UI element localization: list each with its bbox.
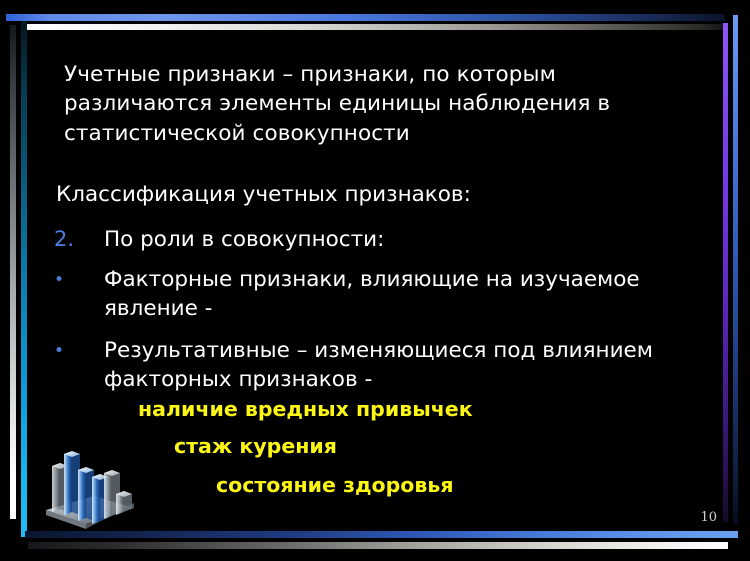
classification-heading: Классификация учетных признаков: — [56, 180, 676, 209]
list-item: • Факторные признаки, влияющие на изучае… — [54, 265, 704, 324]
list-item: 2. По роли в совокупности: — [54, 225, 704, 255]
classification-list: 2. По роли в совокупности: • Факторные п… — [54, 225, 704, 399]
top-blue-border-bar — [6, 14, 725, 21]
bullet-icon: • — [54, 265, 98, 295]
bottom-blue-border-bar — [25, 531, 738, 538]
list-item-label: По роли в совокупности: — [104, 225, 704, 255]
list-item-label: Факторные признаки, влияющие на изучаемо… — [104, 265, 704, 324]
example-line-3: состояние здоровья — [216, 472, 454, 498]
bottom-white-border-bar — [28, 542, 728, 549]
presentation-slide: Учетные признаки – признаки, по которым … — [0, 0, 750, 561]
right-blue-border-bar — [733, 15, 738, 524]
left-cyan-border-bar — [21, 21, 27, 537]
chart-bars — [52, 451, 132, 524]
right-purple-border-bar — [723, 23, 728, 522]
example-line-1: наличие вредных привычек — [138, 396, 473, 422]
3d-bar-chart-icon — [42, 446, 138, 532]
top-white-border-bar — [21, 24, 728, 30]
list-marker-number: 2. — [54, 225, 98, 254]
bullet-icon: • — [54, 336, 98, 366]
list-item: • Результативные – изменяющиеся под влия… — [54, 336, 704, 395]
list-item-label: Результативные – изменяющиеся под влияни… — [104, 336, 704, 395]
slide-number: 10 — [700, 510, 717, 525]
left-gray-border-bar — [10, 25, 16, 519]
definition-paragraph: Учетные признаки – признаки, по которым … — [64, 60, 680, 149]
example-line-2: стаж курения — [174, 433, 337, 459]
